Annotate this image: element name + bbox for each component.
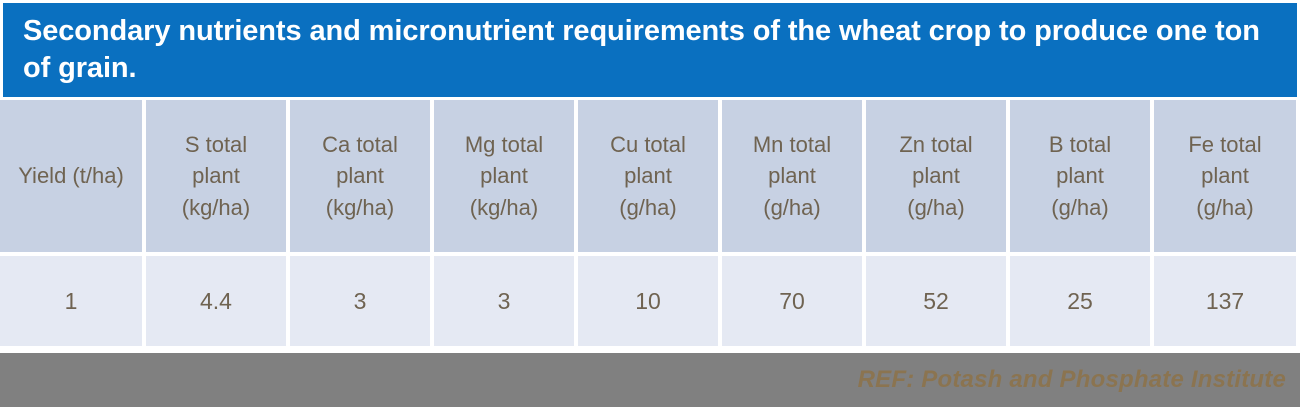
column-header-fe: Fe total plant (g/ha) bbox=[1154, 100, 1300, 256]
column-header-fe-line2: plant bbox=[1154, 160, 1296, 191]
column-header-cu-line3: (g/ha) bbox=[578, 192, 718, 223]
column-header-zn-line1: Zn total bbox=[866, 129, 1006, 160]
column-header-b: B total plant (g/ha) bbox=[1010, 100, 1154, 256]
column-header-s-line2: plant bbox=[146, 160, 286, 191]
cell-fe: 137 bbox=[1154, 256, 1300, 346]
column-header-ca-line1: Ca total bbox=[290, 129, 430, 160]
column-header-b-line1: B total bbox=[1010, 129, 1150, 160]
column-header-zn-line3: (g/ha) bbox=[866, 192, 1006, 223]
cell-mn: 70 bbox=[722, 256, 866, 346]
cell-b: 25 bbox=[1010, 256, 1154, 346]
column-header-fe-line1: Fe total bbox=[1154, 129, 1296, 160]
column-header-mn-line1: Mn total bbox=[722, 129, 862, 160]
column-header-yield: Yield (t/ha) bbox=[0, 100, 146, 256]
cell-s: 4.4 bbox=[146, 256, 290, 346]
column-header-ca: Ca total plant (kg/ha) bbox=[290, 100, 434, 256]
column-header-cu-line1: Cu total bbox=[578, 129, 718, 160]
reference-text: REF: Potash and Phosphate Institute bbox=[858, 366, 1286, 394]
cell-yield: 1 bbox=[0, 256, 146, 346]
page-title: Secondary nutrients and micronutrient re… bbox=[3, 13, 1297, 87]
column-header-zn: Zn total plant (g/ha) bbox=[866, 100, 1010, 256]
column-header-mg: Mg total plant (kg/ha) bbox=[434, 100, 578, 256]
column-header-cu-line2: plant bbox=[578, 160, 718, 191]
column-header-s-line3: (kg/ha) bbox=[146, 192, 286, 223]
table-body: 1 4.4 3 3 10 70 52 25 137 bbox=[0, 256, 1300, 346]
cell-ca: 3 bbox=[290, 256, 434, 346]
cell-zn: 52 bbox=[866, 256, 1010, 346]
title-banner: Secondary nutrients and micronutrient re… bbox=[3, 3, 1297, 97]
cell-mg: 3 bbox=[434, 256, 578, 346]
column-header-cu: Cu total plant (g/ha) bbox=[578, 100, 722, 256]
column-header-ca-line2: plant bbox=[290, 160, 430, 191]
column-header-s: S total plant (kg/ha) bbox=[146, 100, 290, 256]
column-header-mn-line2: plant bbox=[722, 160, 862, 191]
column-header-s-line1: S total bbox=[146, 129, 286, 160]
column-header-fe-line3: (g/ha) bbox=[1154, 192, 1296, 223]
column-header-mg-line3: (kg/ha) bbox=[434, 192, 574, 223]
footer-bar: REF: Potash and Phosphate Institute bbox=[0, 353, 1300, 407]
column-header-yield-line1: Yield (t/ha) bbox=[0, 160, 142, 191]
column-header-mn: Mn total plant (g/ha) bbox=[722, 100, 866, 256]
table-header: Yield (t/ha) S total plant (kg/ha) Ca to… bbox=[0, 100, 1300, 256]
column-header-mg-line1: Mg total bbox=[434, 129, 574, 160]
cell-cu: 10 bbox=[578, 256, 722, 346]
table-row: 1 4.4 3 3 10 70 52 25 137 bbox=[0, 256, 1300, 346]
column-header-b-line3: (g/ha) bbox=[1010, 192, 1150, 223]
column-header-zn-line2: plant bbox=[866, 160, 1006, 191]
column-header-b-line2: plant bbox=[1010, 160, 1150, 191]
table-header-row: Yield (t/ha) S total plant (kg/ha) Ca to… bbox=[0, 100, 1300, 256]
slide-root: Secondary nutrients and micronutrient re… bbox=[0, 0, 1300, 407]
column-header-mn-line3: (g/ha) bbox=[722, 192, 862, 223]
column-header-mg-line2: plant bbox=[434, 160, 574, 191]
nutrient-requirements-table: Yield (t/ha) S total plant (kg/ha) Ca to… bbox=[0, 100, 1300, 346]
column-header-ca-line3: (kg/ha) bbox=[290, 192, 430, 223]
